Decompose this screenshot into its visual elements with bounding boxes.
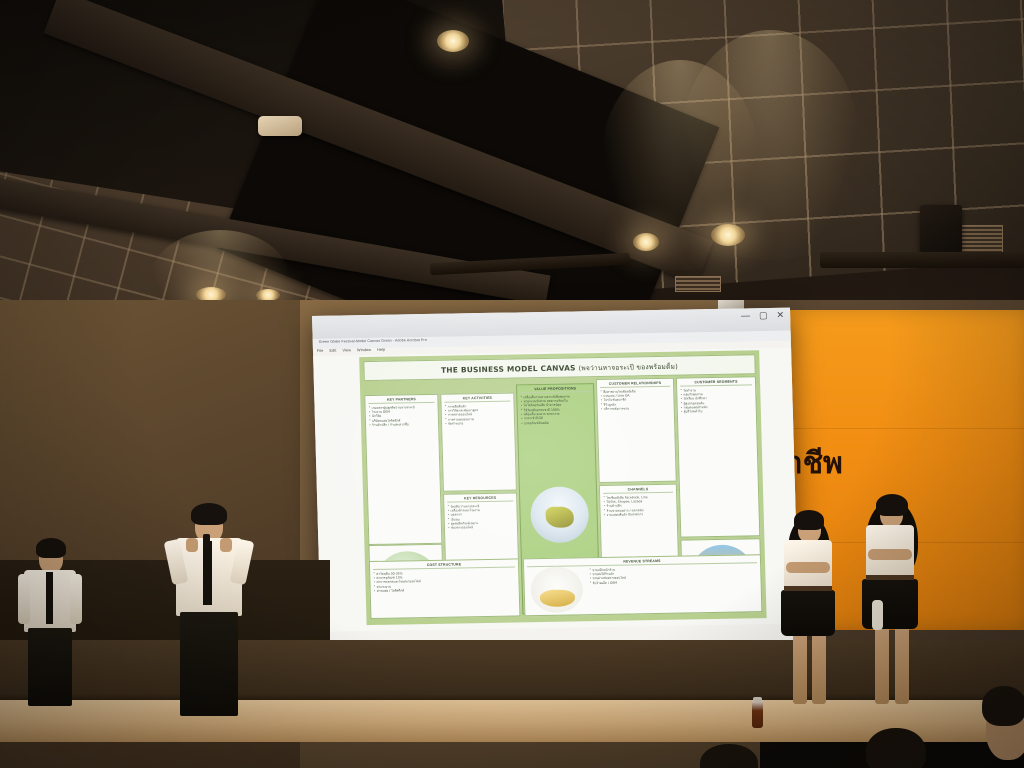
ceiling-speaker [920, 205, 962, 253]
leg-left [793, 632, 807, 704]
stage-front-panel [0, 700, 1024, 742]
hair [794, 510, 824, 530]
document-view[interactable]: THE BUSINESS MODEL CANVAS (พจว่านหาจอระเ… [313, 348, 799, 632]
ceiling [0, 0, 1024, 340]
bmc-cell-cost-structure[interactable]: COST STRUCTURE ค่าวัตถุดิบ 30-35% ค่าบรร… [369, 558, 521, 619]
ceiling-downlight-4 [633, 233, 659, 251]
bmc-cell-customer-relationships[interactable]: CUSTOMER RELATIONSHIPS สื่อสารผ่านโซเชีย… [596, 378, 677, 483]
cell-list: วัยทำงาน กลุ่มรักสุขภาพ นักเรียน นักศึกษ… [680, 387, 753, 415]
cell-header: CUSTOMER SEGMENTS [680, 379, 752, 386]
window-controls[interactable]: — ▢ ✕ [741, 311, 784, 321]
cell-header: KEY PARTNERS [368, 397, 434, 404]
leg-left [875, 626, 889, 704]
list-item: บรรจุภัณฑ์ทันสมัย [521, 420, 591, 426]
bmc-cell-key-partners[interactable]: KEY PARTNERS เกษตรกรผู้ปลูกพืชว่านหางจระ… [364, 394, 442, 545]
cell-list: สื่อสารผ่านโซเชียลมีเดีย แฟนเพจ / Line O… [600, 388, 671, 411]
list-item: ช่องทางออนไลน์ [448, 525, 514, 531]
leg-right [895, 626, 909, 704]
cell-header: VALUE PROPOSITIONS [520, 386, 590, 393]
arm-right [70, 574, 82, 624]
skirt [862, 579, 918, 629]
menu-item-help[interactable]: Help [377, 348, 385, 352]
cell-list: การผลิตสินค้า การวิจัยและพัฒนาสูตร การตล… [445, 403, 512, 426]
audience-head-1 [866, 728, 926, 768]
menu-item-window[interactable]: Window [357, 348, 371, 352]
menu-item-view[interactable]: View [342, 348, 351, 352]
trousers [180, 612, 238, 716]
cell-list: เครื่องดื่มว่านหางจระเข้เพื่อสุขภาพ ช่วย… [520, 394, 591, 426]
leg-right [812, 632, 826, 704]
audience-head-3 [982, 686, 1024, 726]
cell-list: โซเชียลมีเดีย Facebook, Line TikTok, Sho… [603, 494, 674, 517]
slide-title-en: THE BUSINESS MODEL CANVAS [441, 363, 576, 374]
paper-sheet [872, 600, 883, 630]
hair [876, 494, 908, 516]
ceiling-duct [820, 252, 1024, 268]
business-model-canvas-slide: THE BUSINESS MODEL CANVAS (พจว่านหาจอระเ… [359, 350, 766, 625]
product-photo-image [530, 566, 583, 613]
cell-list: วัตถุดิบว่านหางจระเข้ เครื่องจักรและโรงง… [447, 503, 514, 530]
cell-header: KEY RESOURCES [447, 496, 513, 503]
cell-list: ค่าวัตถุดิบ 30-35% ค่าบรรจุภัณฑ์ 15% ค่า… [373, 569, 516, 593]
hair [191, 503, 227, 525]
skirt [781, 590, 835, 636]
slide-title: THE BUSINESS MODEL CANVAS (พจว่านหาจอระเ… [441, 360, 678, 375]
list-item: ผู้บริโภคทั่วไป [681, 409, 753, 415]
microphone [203, 534, 210, 548]
bottle-cap [753, 697, 762, 702]
list-item: จัดจำหน่าย [445, 421, 511, 427]
bmc-cell-key-activities[interactable]: KEY ACTIVITIES การผลิตสินค้า การวิจัยและ… [440, 392, 517, 491]
bmc-cell-revenue-streams[interactable]: REVENUE STREAMS ขายปลีกหน้าร้าน ขายส่งให… [523, 554, 763, 616]
necktie [203, 541, 212, 605]
list-item: บริการหลังการขาย [601, 406, 671, 412]
auditorium-scene: วาชีพ p — ▢ ✕ Green Globe Festival-Model… [0, 0, 1024, 768]
hand-left [186, 538, 198, 552]
necktie [46, 572, 53, 624]
arms-crossed [868, 549, 912, 560]
arms-crossed [786, 562, 830, 573]
close-icon[interactable]: ✕ [776, 311, 784, 320]
menu-item-file[interactable]: File [317, 349, 324, 353]
arm-left [18, 574, 30, 624]
cell-header: CHANNELS [603, 487, 673, 494]
aloe-product-image [530, 486, 590, 543]
cell-header: KEY ACTIVITIES [444, 396, 510, 403]
list-item: ร้านค้าปลีก / ร้านสะดวกซื้อ [369, 422, 435, 428]
cell-list: เกษตรกรผู้ปลูกพืชว่านหางจระเข้ โรงงาน OE… [369, 404, 436, 427]
belt [784, 586, 832, 591]
projection-screen: — ▢ ✕ Green Globe Festival-Model Canvas … [312, 308, 800, 681]
hair [36, 538, 66, 558]
water-bottle [752, 700, 763, 728]
stage-floor [0, 640, 1024, 700]
cell-list: ขายปลีกหน้าร้าน ขายส่งให้ร้านค้า ขายผ่าน… [589, 565, 757, 585]
hand-right [220, 538, 232, 552]
ceiling-air-vent [675, 276, 721, 292]
slide-title-th: (พจว่านหาจอระเปี ของพร้อมดื่ม) [578, 362, 678, 372]
minimize-icon[interactable]: — [741, 311, 750, 320]
belt [866, 575, 914, 580]
menu-bar[interactable]: File Edit View Window Help [317, 348, 385, 353]
list-item: งานแสดงสินค้า นิทรรศการ [604, 512, 674, 518]
menu-item-edit[interactable]: Edit [329, 349, 336, 353]
trousers [28, 628, 72, 706]
ceiling-downlight-5 [711, 224, 745, 246]
bmc-grid: KEY PARTNERS เกษตรกรผู้ปลูกพืชว่านหางจระ… [364, 376, 763, 621]
bmc-cell-customer-segments[interactable]: CUSTOMER SEGMENTS วัยทำงาน กลุ่มรักสุขภา… [676, 376, 760, 537]
cell-header: CUSTOMER RELATIONSHIPS [600, 381, 670, 388]
wifi-access-point-icon [258, 116, 302, 136]
maximize-icon[interactable]: ▢ [759, 311, 768, 320]
ceiling-downlight-1 [437, 30, 469, 52]
